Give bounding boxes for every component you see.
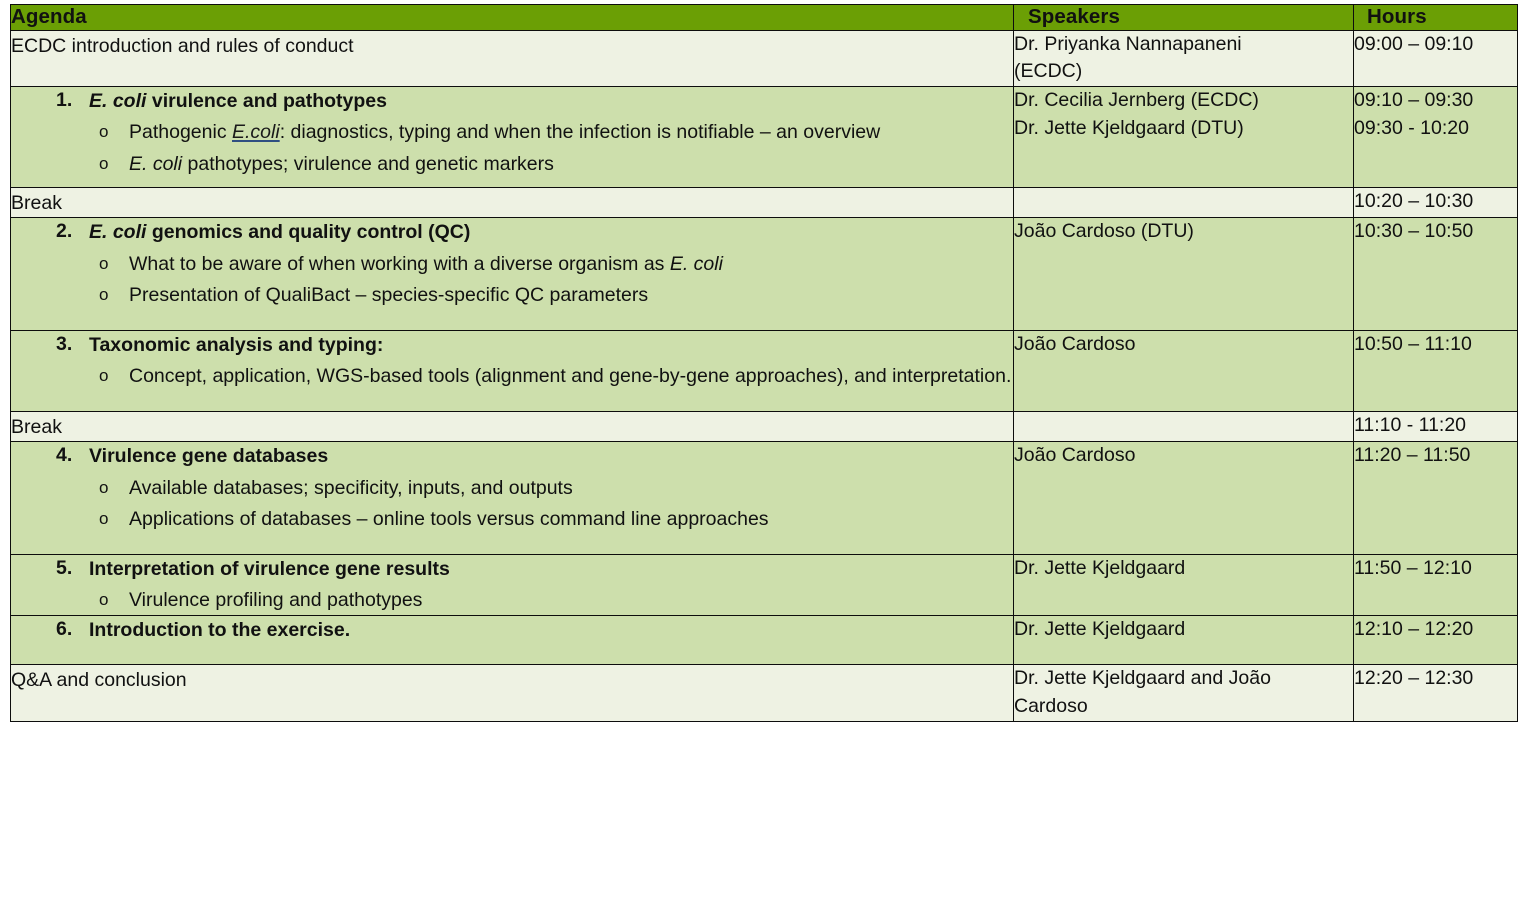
agenda-sub-item: oPresentation of QualiBact – species-spe… xyxy=(89,281,1013,310)
table-row: ECDC introduction and rules of conductDr… xyxy=(11,30,1518,86)
agenda-text: ECDC introduction and rules of conduct xyxy=(11,31,1013,61)
speaker-name: Dr. Cecilia Jernberg (ECDC) xyxy=(1014,87,1353,115)
agenda-numbered-list: 2.E. coli genomics and quality control (… xyxy=(11,218,1013,310)
hours-value: 11:50 – 12:10 xyxy=(1354,555,1517,583)
agenda-numbered-list: 4.Virulence gene databasesoAvailable dat… xyxy=(11,442,1013,534)
agenda-item: 4.Virulence gene databasesoAvailable dat… xyxy=(11,442,1013,534)
hours-value: 10:20 – 10:30 xyxy=(1354,188,1517,216)
row-spacer xyxy=(11,644,1013,664)
italic-species-name: E. coli xyxy=(89,90,146,112)
agenda-table: Agenda Speakers Hours ECDC introduction … xyxy=(10,4,1518,722)
agenda-sub-text: E. coli pathotypes; virulence and geneti… xyxy=(129,150,1013,179)
hours-cell: 10:30 – 10:50 xyxy=(1354,218,1518,331)
sub-text-part: pathotypes; virulence and genetic marker… xyxy=(182,153,554,175)
speakers-cell: Dr. Jette Kjeldgaard xyxy=(1014,555,1354,616)
item-number: 1. xyxy=(56,87,72,115)
item-title: E. coli virulence and pathotypes xyxy=(89,87,1013,115)
agenda-numbered-list: 6.Introduction to the exercise. xyxy=(11,616,1013,644)
sub-text-part: Pathogenic xyxy=(129,121,232,143)
hours-cell: 10:20 – 10:30 xyxy=(1354,187,1518,218)
table-body: ECDC introduction and rules of conductDr… xyxy=(11,30,1518,721)
speakers-cell: Dr. Jette Kjeldgaard xyxy=(1014,615,1354,664)
agenda-sub-list: oVirulence profiling and pathotypes xyxy=(89,586,1013,615)
agenda-sub-item: oVirulence profiling and pathotypes xyxy=(89,586,1013,615)
speaker-name: Dr. Priyanka Nannapaneni xyxy=(1014,31,1353,59)
hours-cell: 09:10 – 09:3009:30 - 10:20 xyxy=(1354,86,1518,187)
agenda-cell: Break xyxy=(11,411,1014,442)
table-row: 5.Interpretation of virulence gene resul… xyxy=(11,555,1518,616)
item-title-text: Interpretation of virulence gene results xyxy=(89,558,450,580)
agenda-item: 6.Introduction to the exercise. xyxy=(11,616,1013,644)
agenda-sub-item: oWhat to be aware of when working with a… xyxy=(89,250,1013,279)
hours-cell: 10:50 – 11:10 xyxy=(1354,330,1518,411)
row-spacer xyxy=(11,391,1013,411)
agenda-sub-list: oAvailable databases; specificity, input… xyxy=(89,474,1013,534)
hours-value: 10:30 – 10:50 xyxy=(1354,218,1517,246)
agenda-item: 5.Interpretation of virulence gene resul… xyxy=(11,555,1013,615)
item-number: 3. xyxy=(56,331,72,359)
item-title-text: Introduction to the exercise. xyxy=(89,619,350,641)
hours-value: 09:30 - 10:20 xyxy=(1354,115,1517,143)
speaker-name: João Cardoso (DTU) xyxy=(1014,218,1353,246)
column-header-agenda: Agenda xyxy=(11,5,1014,31)
agenda-text: Break xyxy=(11,412,1013,442)
item-number: 5. xyxy=(56,555,72,583)
table-row: Q&A and conclusionDr. Jette Kjeldgaard a… xyxy=(11,665,1518,721)
speaker-name: João Cardoso xyxy=(1014,442,1353,470)
bullet-marker-icon: o xyxy=(99,362,108,390)
speakers-cell xyxy=(1014,411,1354,442)
speakers-cell: João Cardoso xyxy=(1014,330,1354,411)
bullet-marker-icon: o xyxy=(99,586,108,614)
agenda-numbered-list: 5.Interpretation of virulence gene resul… xyxy=(11,555,1013,615)
speaker-name: Dr. Jette Kjeldgaard (DTU) xyxy=(1014,115,1353,143)
hours-value: 11:10 - 11:20 xyxy=(1354,412,1517,440)
bullet-marker-icon: o xyxy=(99,505,108,533)
speakers-cell: João Cardoso xyxy=(1014,442,1354,555)
bullet-marker-icon: o xyxy=(99,281,108,309)
item-title: E. coli genomics and quality control (QC… xyxy=(89,218,1013,246)
table-row: Break11:10 - 11:20 xyxy=(11,411,1518,442)
agenda-sub-list: oPathogenic E.coli: diagnostics, typing … xyxy=(89,118,1013,178)
speakers-cell: Dr. Jette Kjeldgaard and JoãoCardoso xyxy=(1014,665,1354,721)
speaker-name: Cardoso xyxy=(1014,693,1353,721)
agenda-sub-item: oConcept, application, WGS-based tools (… xyxy=(89,362,1013,391)
table-row: 3.Taxonomic analysis and typing:oConcept… xyxy=(11,330,1518,411)
column-header-hours: Hours xyxy=(1354,5,1518,31)
speakers-cell: João Cardoso (DTU) xyxy=(1014,218,1354,331)
agenda-cell: 6.Introduction to the exercise. xyxy=(11,615,1014,664)
agenda-text: Q&A and conclusion xyxy=(11,665,1013,695)
agenda-cell: ECDC introduction and rules of conduct xyxy=(11,30,1014,86)
table-row: Break10:20 – 10:30 xyxy=(11,187,1518,218)
agenda-item: 2.E. coli genomics and quality control (… xyxy=(11,218,1013,310)
speakers-cell: Dr. Cecilia Jernberg (ECDC)Dr. Jette Kje… xyxy=(1014,86,1354,187)
agenda-sub-text: What to be aware of when working with a … xyxy=(129,250,1013,279)
hours-cell: 11:20 – 11:50 xyxy=(1354,442,1518,555)
table-row: 2.E. coli genomics and quality control (… xyxy=(11,218,1518,331)
speakers-cell xyxy=(1014,187,1354,218)
agenda-text: Break xyxy=(11,188,1013,218)
row-spacer xyxy=(11,179,1013,187)
agenda-sub-text: Virulence profiling and pathotypes xyxy=(129,586,1013,615)
hours-cell: 11:50 – 12:10 xyxy=(1354,555,1518,616)
agenda-sub-item: oPathogenic E.coli: diagnostics, typing … xyxy=(89,118,1013,147)
agenda-item: 1.E. coli virulence and pathotypesoPatho… xyxy=(11,87,1013,179)
hours-cell: 09:00 – 09:10 xyxy=(1354,30,1518,86)
speaker-name: Dr. Jette Kjeldgaard xyxy=(1014,616,1353,644)
agenda-sub-list: oConcept, application, WGS-based tools (… xyxy=(89,362,1013,391)
table-row: 1.E. coli virulence and pathotypesoPatho… xyxy=(11,86,1518,187)
agenda-numbered-list: 3.Taxonomic analysis and typing:oConcept… xyxy=(11,331,1013,391)
item-title: Virulence gene databases xyxy=(89,442,1013,470)
agenda-sub-text: Concept, application, WGS-based tools (a… xyxy=(129,362,1013,391)
table-row: 4.Virulence gene databasesoAvailable dat… xyxy=(11,442,1518,555)
agenda-sub-text: Pathogenic E.coli: diagnostics, typing a… xyxy=(129,118,1013,147)
speakers-cell: Dr. Priyanka Nannapaneni(ECDC) xyxy=(1014,30,1354,86)
hours-cell: 11:10 - 11:20 xyxy=(1354,411,1518,442)
speaker-name: (ECDC) xyxy=(1014,58,1353,86)
sub-text-part: Applications of databases – online tools… xyxy=(129,508,769,530)
ecoli-link[interactable]: E.coli xyxy=(232,121,280,143)
hours-value: 10:50 – 11:10 xyxy=(1354,331,1517,359)
row-spacer xyxy=(11,310,1013,330)
sub-text-part: : diagnostics, typing and when the infec… xyxy=(280,121,881,143)
hours-value: 11:20 – 11:50 xyxy=(1354,442,1517,470)
agenda-sub-item: oE. coli pathotypes; virulence and genet… xyxy=(89,150,1013,179)
hours-value: 09:10 – 09:30 xyxy=(1354,87,1517,115)
agenda-cell: 1.E. coli virulence and pathotypesoPatho… xyxy=(11,86,1014,187)
header-row: Agenda Speakers Hours xyxy=(11,5,1518,31)
italic-species-name: E. coli xyxy=(89,221,146,243)
speaker-name: Dr. Jette Kjeldgaard xyxy=(1014,555,1353,583)
bullet-marker-icon: o xyxy=(99,250,108,278)
item-number: 2. xyxy=(56,218,72,246)
speaker-name: Dr. Jette Kjeldgaard and João xyxy=(1014,665,1353,693)
italic-species-name: E. coli xyxy=(129,153,182,175)
table-row: 6.Introduction to the exercise.Dr. Jette… xyxy=(11,615,1518,664)
row-spacer xyxy=(11,695,1013,715)
agenda-item: 3.Taxonomic analysis and typing:oConcept… xyxy=(11,331,1013,391)
hours-cell: 12:20 – 12:30 xyxy=(1354,665,1518,721)
item-title-text: virulence and pathotypes xyxy=(146,90,387,112)
agenda-sub-text: Applications of databases – online tools… xyxy=(129,505,1013,534)
bullet-marker-icon: o xyxy=(99,118,108,146)
italic-species-name: E. coli xyxy=(670,253,723,275)
item-number: 6. xyxy=(56,616,72,644)
agenda-document: Agenda Speakers Hours ECDC introduction … xyxy=(0,0,1525,898)
item-title: Taxonomic analysis and typing: xyxy=(89,331,1013,359)
sub-text-part: Virulence profiling and pathotypes xyxy=(129,589,422,611)
agenda-cell: Q&A and conclusion xyxy=(11,665,1014,721)
agenda-cell: 2.E. coli genomics and quality control (… xyxy=(11,218,1014,331)
item-title-text: genomics and quality control (QC) xyxy=(146,221,470,243)
bullet-marker-icon: o xyxy=(99,474,108,502)
item-title-text: Taxonomic analysis and typing: xyxy=(89,334,383,356)
item-title: Introduction to the exercise. xyxy=(89,616,1013,644)
column-header-speakers: Speakers xyxy=(1014,5,1354,31)
hours-value: 12:20 – 12:30 xyxy=(1354,665,1517,693)
agenda-sub-text: Available databases; specificity, inputs… xyxy=(129,474,1013,503)
hours-value: 09:00 – 09:10 xyxy=(1354,31,1517,59)
row-spacer xyxy=(11,534,1013,554)
bullet-marker-icon: o xyxy=(99,150,108,178)
sub-text-part: Presentation of QualiBact – species-spec… xyxy=(129,284,648,306)
agenda-cell: 3.Taxonomic analysis and typing:oConcept… xyxy=(11,330,1014,411)
table-header: Agenda Speakers Hours xyxy=(11,5,1518,31)
sub-text-part: What to be aware of when working with a … xyxy=(129,253,670,275)
sub-text-part: Available databases; specificity, inputs… xyxy=(129,477,573,499)
agenda-cell: 5.Interpretation of virulence gene resul… xyxy=(11,555,1014,616)
agenda-numbered-list: 1.E. coli virulence and pathotypesoPatho… xyxy=(11,87,1013,179)
agenda-sub-list: oWhat to be aware of when working with a… xyxy=(89,250,1013,310)
item-title: Interpretation of virulence gene results xyxy=(89,555,1013,583)
hours-cell: 12:10 – 12:20 xyxy=(1354,615,1518,664)
speaker-name: João Cardoso xyxy=(1014,331,1353,359)
agenda-sub-item: oAvailable databases; specificity, input… xyxy=(89,474,1013,503)
hours-value: 12:10 – 12:20 xyxy=(1354,616,1517,644)
agenda-sub-text: Presentation of QualiBact – species-spec… xyxy=(129,281,1013,310)
agenda-cell: 4.Virulence gene databasesoAvailable dat… xyxy=(11,442,1014,555)
sub-text-part: Concept, application, WGS-based tools (a… xyxy=(129,365,1011,387)
item-number: 4. xyxy=(56,442,72,470)
agenda-cell: Break xyxy=(11,187,1014,218)
item-title-text: Virulence gene databases xyxy=(89,445,328,467)
agenda-sub-item: oApplications of databases – online tool… xyxy=(89,505,1013,534)
